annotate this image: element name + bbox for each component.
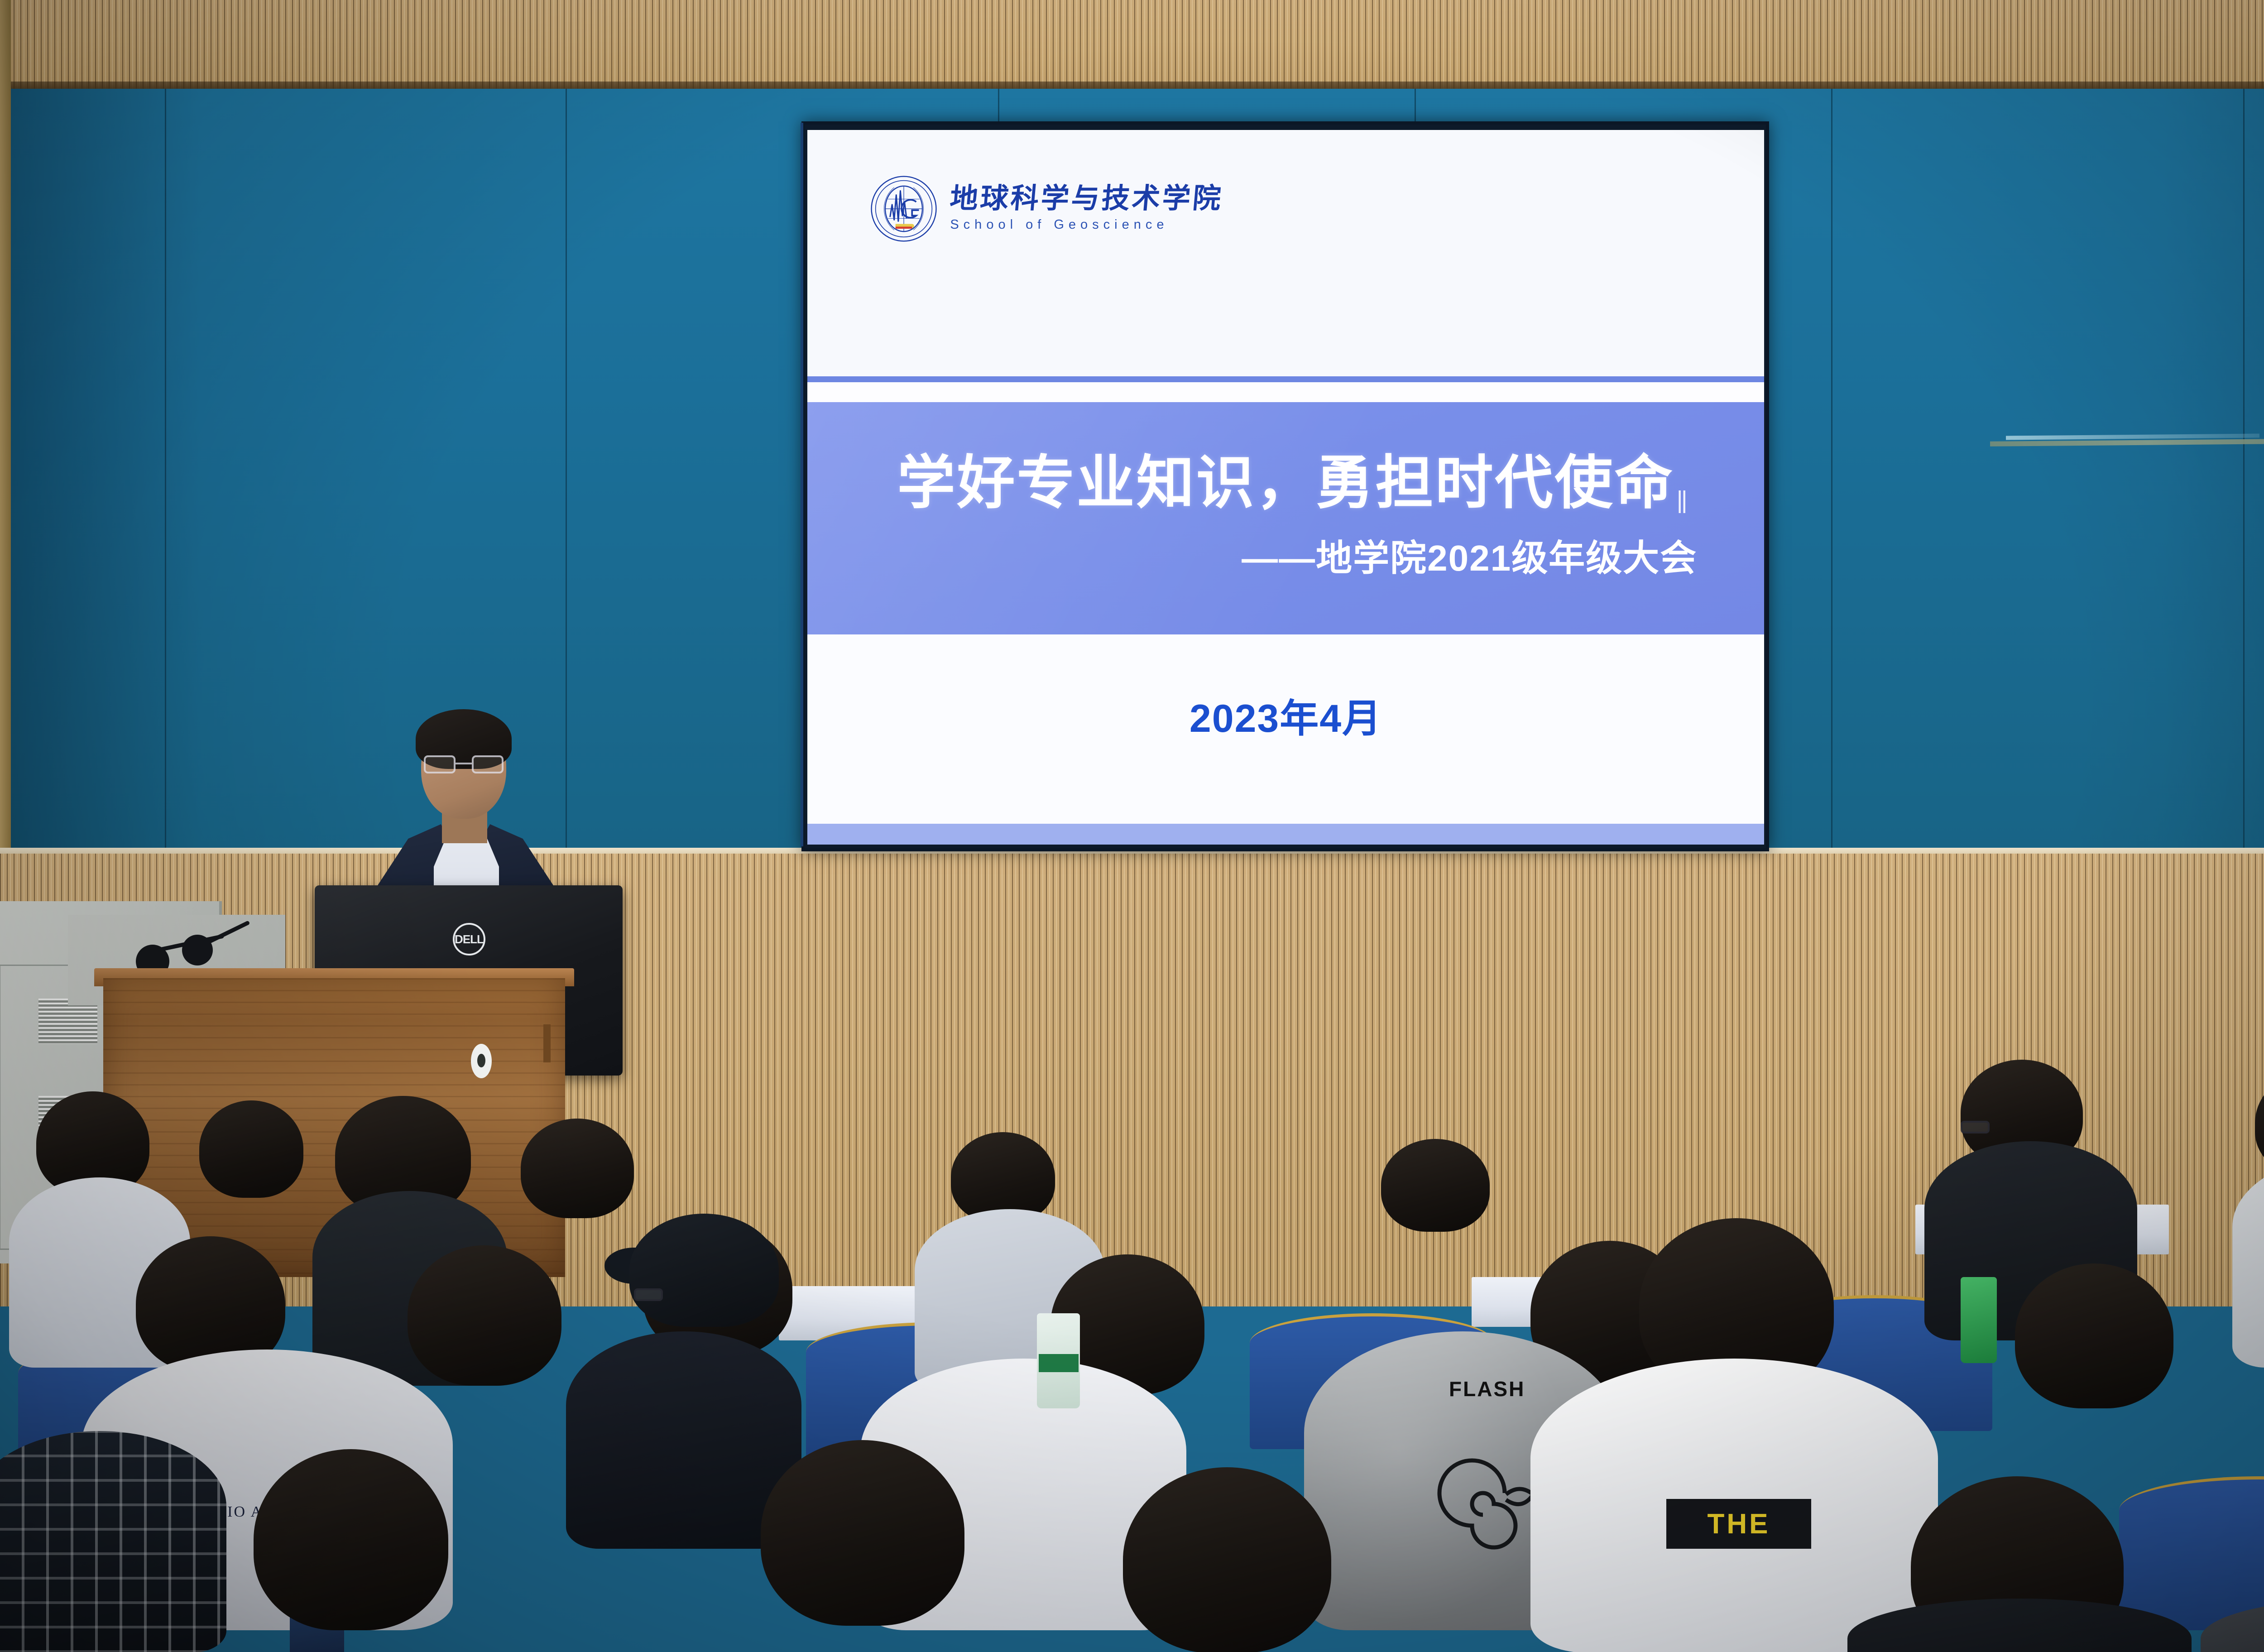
audience-head [521, 1119, 634, 1218]
left-wall-wood-edge [0, 0, 11, 906]
wall-shadow-left [11, 89, 201, 854]
green-bottle [1961, 1277, 1997, 1363]
audience-head [761, 1440, 964, 1626]
auditorium-chair [2119, 1476, 2264, 1630]
baseball-cap [629, 1214, 779, 1327]
slide-footer-band [807, 824, 1764, 845]
school-logo: 地球科学与技术学院 School of Geoscience [869, 174, 1223, 243]
school-logo-text: 地球科学与技术学院 School of Geoscience [950, 185, 1223, 232]
audience-head [254, 1449, 448, 1630]
school-name-chinese: 地球科学与技术学院 [949, 185, 1224, 213]
slide-subtitle: ——地学院2021级年级大会 [807, 529, 1764, 581]
school-name-english: School of Geoscience [950, 217, 1223, 232]
bottle-label [1039, 1354, 1079, 1372]
audience-head [2015, 1263, 2173, 1408]
school-of-geoscience-emblem-icon [869, 174, 938, 243]
audience-seating: EMPORIO ARMANI FLASH THE [0, 1042, 2264, 1652]
eyeglasses-icon [1961, 1121, 1990, 1133]
slide-body: 2023年4月 [807, 634, 1764, 824]
slide-date: 2023年4月 [1190, 687, 1382, 743]
wall-panel-seam [165, 89, 166, 854]
eyeglass-lens [472, 755, 504, 773]
wall-shadow-right [2161, 89, 2264, 854]
audience-head [1381, 1139, 1490, 1232]
slide-title: 学好专业知识，勇担时代使命 [807, 453, 1764, 514]
wall-panel-seam [1831, 89, 1832, 854]
eyeglasses-icon [634, 1288, 663, 1301]
audience-head [199, 1100, 303, 1198]
pause-marker-icon: || [1677, 486, 1686, 514]
apparel-graphic-text: THE [1666, 1499, 1811, 1549]
audience-torso [2232, 1155, 2264, 1368]
audience-head [2255, 1069, 2264, 1177]
eyeglass-lens [424, 755, 456, 773]
slide-header: 地球科学与技术学院 School of Geoscience [807, 130, 1764, 376]
apparel-graphic-text: FLASH [1449, 1377, 1525, 1401]
audience-torso [0, 1431, 226, 1652]
audience-head [1123, 1467, 1331, 1652]
presentation-slide: 地球科学与技术学院 School of Geoscience 学好专业知识，勇担… [807, 130, 1764, 845]
wall-panel-seam [2243, 89, 2245, 854]
audience-head [408, 1245, 561, 1386]
cabinet-vent [38, 999, 97, 1044]
ceiling-wood-slat-strip [0, 0, 2264, 89]
slide-divider-gap [807, 382, 1764, 402]
eyeglass-bridge [456, 763, 472, 764]
slide-divider-rule [807, 376, 1764, 382]
slide-title-band: 学好专业知识，勇担时代使命 ——地学院2021级年级大会 || [807, 402, 1764, 634]
microphone-arm [204, 920, 250, 946]
eyeglasses-icon [424, 755, 505, 773]
dell-logo-icon: DELL [453, 923, 485, 956]
lecture-hall-photo: 地球科学与技术学院 School of Geoscience 学好专业知识，勇担… [0, 0, 2264, 1652]
projection-screen-frame: 地球科学与技术学院 School of Geoscience 学好专业知识，勇担… [801, 121, 1769, 851]
